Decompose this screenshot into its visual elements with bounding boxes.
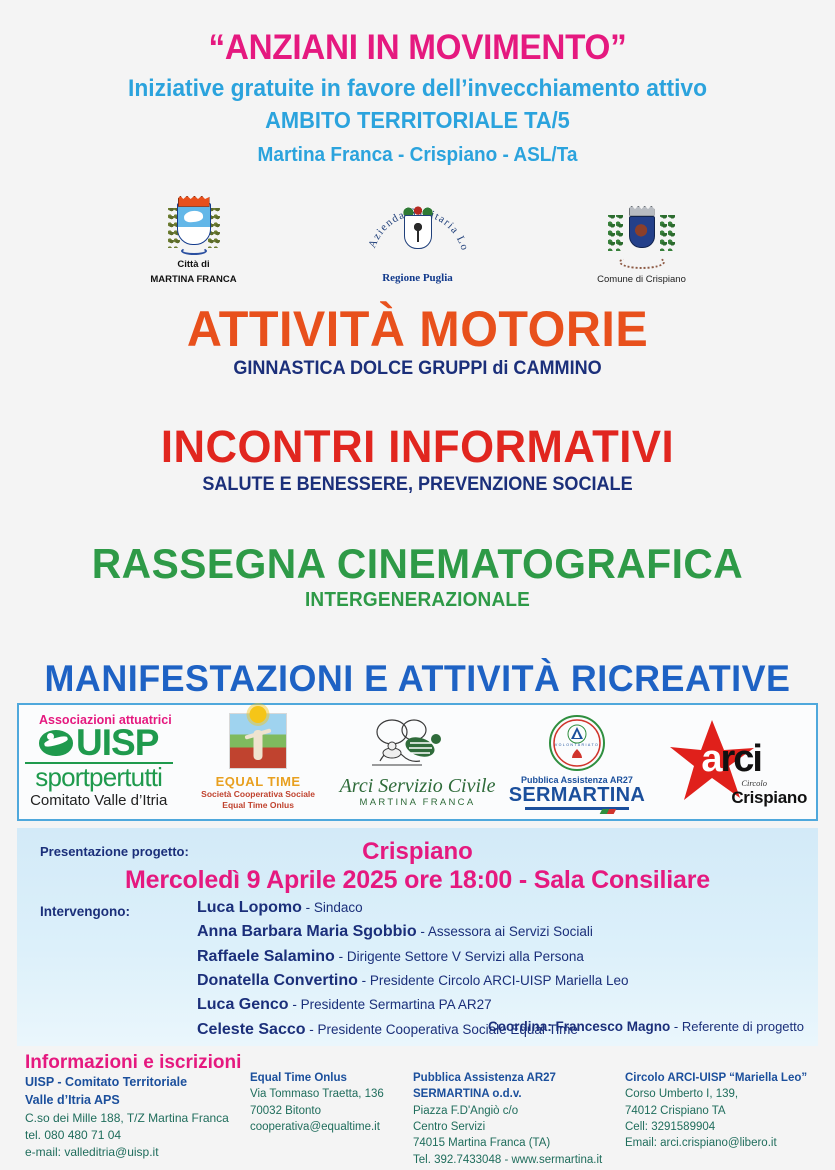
coordinator-row: Coordina: Francesco Magno - Referente di… bbox=[488, 1018, 804, 1036]
branch-left-icon bbox=[608, 215, 624, 251]
list-item: Luca Genco - Presidente Sermartina PA AR… bbox=[197, 993, 629, 1017]
presentation-datetime: Mercoledì 9 Aprile 2025 ore 18:00 - Sala… bbox=[17, 866, 818, 895]
equal-time-line3: Equal Time Onlus bbox=[222, 800, 294, 811]
contact-address: Piazza F.D'Angiò c/o bbox=[413, 1103, 613, 1119]
section-heading: MANIFESTAZIONI E ATTIVITÀ RICREATIVE bbox=[13, 660, 823, 698]
contact-phone: Tel. 392.7433048 - www.sermartina.it bbox=[413, 1152, 613, 1168]
crown-icon bbox=[629, 206, 655, 216]
divider bbox=[525, 807, 629, 810]
speaker-name: Luca Genco bbox=[197, 996, 289, 1013]
svg-text:VOLONTARIATO: VOLONTARIATO bbox=[555, 743, 599, 747]
wreath-icon bbox=[619, 255, 665, 269]
branch-right-icon bbox=[660, 215, 676, 251]
tree-icon bbox=[413, 222, 423, 242]
bee-and-figure-icon bbox=[362, 717, 474, 771]
crest-caption-line1: Comune di Crispiano bbox=[567, 274, 717, 286]
contact-name-line: Circolo ARCI-UISP “Mariella Leo” bbox=[625, 1070, 830, 1086]
section-manifestazioni: MANIFESTAZIONI E ATTIVITÀ RICREATIVE bbox=[0, 660, 835, 698]
arci-logo-text-a: a bbox=[701, 738, 720, 780]
sun-icon bbox=[250, 706, 267, 723]
logo-arci-crispiano: arci Circolo Crispiano bbox=[657, 705, 816, 819]
arci-city-label: Crispiano bbox=[731, 788, 807, 808]
crest-crispiano: Comune di Crispiano bbox=[567, 205, 717, 286]
section-attivita-motorie: ATTIVITÀ MOTORIE GINNASTICA DOLCE GRUPPI… bbox=[0, 303, 835, 380]
uisp-tagline: sportpertutti bbox=[35, 764, 162, 791]
section-incontri-informativi: INCONTRI INFORMATIVI SALUTE E BENESSERE,… bbox=[0, 424, 835, 496]
subtitle-initiative: Iniziative gratuite in favore dell’invec… bbox=[21, 73, 814, 105]
equal-time-emblem-icon bbox=[229, 713, 287, 769]
uisp-wordmark: UISP bbox=[39, 726, 158, 759]
arci-servizio-civile-logo-text: Arci Servizio Civile bbox=[340, 776, 496, 796]
speaker-role: - Dirigente Settore V Servizi alla Perso… bbox=[335, 949, 584, 964]
speaker-role: - Presidente Sermartina PA AR27 bbox=[289, 997, 492, 1012]
list-item: Donatella Convertino - Presidente Circol… bbox=[197, 969, 629, 993]
contact-email: e-mail: valleditria@uisp.it bbox=[25, 1144, 240, 1161]
contact-column-uisp: UISP - Comitato Territoriale Valle d’Itr… bbox=[25, 1074, 240, 1161]
knight-icon bbox=[632, 222, 650, 240]
shield-icon bbox=[177, 203, 211, 245]
contact-column-equal-time: Equal Time Onlus Via Tommaso Traetta, 13… bbox=[250, 1070, 405, 1135]
contact-city: 74015 Martina Franca (TA) bbox=[413, 1135, 613, 1151]
speaker-name: Anna Barbara Maria Sgobbio bbox=[197, 923, 417, 940]
contact-phone: Cell: 3291589904 bbox=[625, 1119, 830, 1135]
speaker-role: - Assessora ai Servizi Sociali bbox=[417, 924, 593, 939]
equal-time-line2: Società Cooperativa Sociale bbox=[201, 789, 315, 800]
contact-name-line: Pubblica Assistenza AR27 bbox=[413, 1070, 613, 1086]
figure-icon bbox=[254, 730, 263, 760]
contact-address: Corso Umberto I, 139, bbox=[625, 1086, 830, 1102]
logo-arci-servizio-civile: Arci Servizio Civile MARTINA FRANCA bbox=[338, 705, 497, 819]
uisp-committee: Comitato Valle d’Itria bbox=[30, 792, 167, 810]
institution-crest-row: Città di MARTINA FRANCA Azienda Sanitari… bbox=[0, 185, 835, 285]
arci-logo-text-rci: rci bbox=[720, 738, 760, 780]
speakers-label: Intervengono: bbox=[40, 904, 130, 919]
sermartina-line2: Pubblica Assistenza AR27 bbox=[521, 775, 633, 785]
contact-address: Via Tommaso Traetta, 136 bbox=[250, 1086, 405, 1102]
list-item: Luca Lopomo - Sindaco bbox=[197, 896, 629, 920]
section-heading: RASSEGNA CINEMATOGRAFICA bbox=[13, 542, 823, 586]
subtitle-towns: Martina Franca - Crispiano - ASL/Ta bbox=[21, 142, 814, 168]
speaker-role: - Presidente Circolo ARCI-UISP Mariella … bbox=[358, 973, 629, 988]
section-heading: INCONTRI INFORMATIVI bbox=[13, 424, 823, 471]
presentation-city: Crispiano bbox=[17, 838, 818, 866]
page-title: “ANZIANI IN MOVIMENTO” bbox=[21, 28, 814, 67]
ribbon-icon bbox=[181, 247, 207, 255]
logo-equal-time: EQUAL TIME Società Cooperativa Sociale E… bbox=[178, 705, 337, 819]
coordinator-name: Coordina: Francesco Magno bbox=[488, 1019, 670, 1034]
section-subheading: INTERGENERAZIONALE bbox=[21, 589, 814, 612]
arci-servizio-civile-city: MARTINA FRANCA bbox=[340, 797, 496, 808]
crown-icon bbox=[178, 196, 210, 207]
uisp-swoosh-icon bbox=[39, 730, 73, 756]
comune-crispiano-crest-icon bbox=[605, 205, 679, 271]
contact-email: Email: arci.crispiano@libero.it bbox=[625, 1135, 830, 1151]
crest-martina-franca: Città di MARTINA FRANCA bbox=[119, 194, 269, 286]
contact-address: C.so dei Mille 188, T/Z Martina Franca bbox=[25, 1110, 240, 1127]
coordinator-role: - Referente di progetto bbox=[670, 1019, 804, 1034]
speaker-name: Donatella Convertino bbox=[197, 972, 358, 989]
poster-header: “ANZIANI IN MOVIMENTO” Iniziative gratui… bbox=[0, 0, 835, 168]
crest-caption-line2: MARTINA FRANCA bbox=[119, 274, 269, 286]
footer-title: Informazioni e iscrizioni bbox=[25, 1052, 241, 1074]
contact-email: cooperativa@equaltime.it bbox=[250, 1119, 405, 1135]
contact-phone: tel. 080 480 71 04 bbox=[25, 1127, 240, 1144]
comune-martina-franca-crest-icon bbox=[165, 194, 223, 256]
speaker-name: Luca Lopomo bbox=[197, 899, 302, 916]
sermartina-seal-icon: VOLONTARIATO bbox=[549, 715, 605, 771]
contact-city: 74012 Crispiano TA bbox=[625, 1103, 830, 1119]
logo-sermartina: VOLONTARIATO Pubblica Assistenza AR27 SE… bbox=[497, 705, 656, 819]
contact-address-2: Centro Servizi bbox=[413, 1119, 613, 1135]
contact-column-sermartina: Pubblica Assistenza AR27 SERMARTINA o.d.… bbox=[413, 1070, 613, 1168]
section-subheading: GINNASTICA DOLCE GRUPPI di CAMMINO bbox=[21, 358, 814, 380]
section-subheading: SALUTE E BENESSERE, PREVENZIONE SOCIALE bbox=[21, 474, 814, 496]
section-rassegna-cinematografica: RASSEGNA CINEMATOGRAFICA INTERGENERAZION… bbox=[0, 542, 835, 612]
arci-logo-text: arci bbox=[701, 740, 761, 778]
contact-name-line: Equal Time Onlus bbox=[250, 1070, 405, 1086]
arci-circolo-label: Circolo bbox=[741, 778, 767, 788]
contact-name-line: SERMARTINA o.d.v. bbox=[413, 1086, 613, 1102]
section-heading: ATTIVITÀ MOTORIE bbox=[13, 303, 823, 355]
speaker-role: - Sindaco bbox=[302, 900, 363, 915]
subtitle-ambito: AMBITO TERRITORIALE TA/5 bbox=[21, 106, 814, 136]
sermartina-logo-text: SERMARTINA bbox=[509, 785, 645, 805]
contact-column-arci-crispiano: Circolo ARCI-UISP “Mariella Leo” Corso U… bbox=[625, 1070, 830, 1152]
speaker-name: Raffaele Salamino bbox=[197, 948, 335, 965]
list-item: Raffaele Salamino - Dirigente Settore V … bbox=[197, 945, 629, 969]
crest-caption-line1: Regione Puglia bbox=[343, 272, 493, 286]
equal-time-logo-text: EQUAL TIME bbox=[216, 774, 301, 789]
uisp-logo-text: UISP bbox=[76, 726, 158, 759]
presentation-panel: Presentazione progetto: Crispiano Mercol… bbox=[17, 828, 818, 1046]
associations-band: Associazioni attuatrici UISP sportpertut… bbox=[17, 703, 818, 821]
asl-taranto-crest-icon: Azienda Sanitaria Locale Taranto bbox=[366, 189, 470, 269]
crest-caption-line1: Città di bbox=[119, 259, 269, 271]
associations-label: Associazioni attuatrici bbox=[39, 713, 172, 727]
list-item: Anna Barbara Maria Sgobbio - Assessora a… bbox=[197, 920, 629, 944]
contact-city: 70032 Bitonto bbox=[250, 1103, 405, 1119]
poster-root: “ANZIANI IN MOVIMENTO” Iniziative gratui… bbox=[0, 0, 835, 1170]
contact-name-line: UISP - Comitato Territoriale bbox=[25, 1074, 240, 1092]
speaker-name: Celeste Sacco bbox=[197, 1021, 306, 1038]
contact-name-line: Valle d’Itria APS bbox=[25, 1092, 240, 1110]
crest-asl-taranto: Azienda Sanitaria Locale Taranto Regione… bbox=[343, 189, 493, 286]
